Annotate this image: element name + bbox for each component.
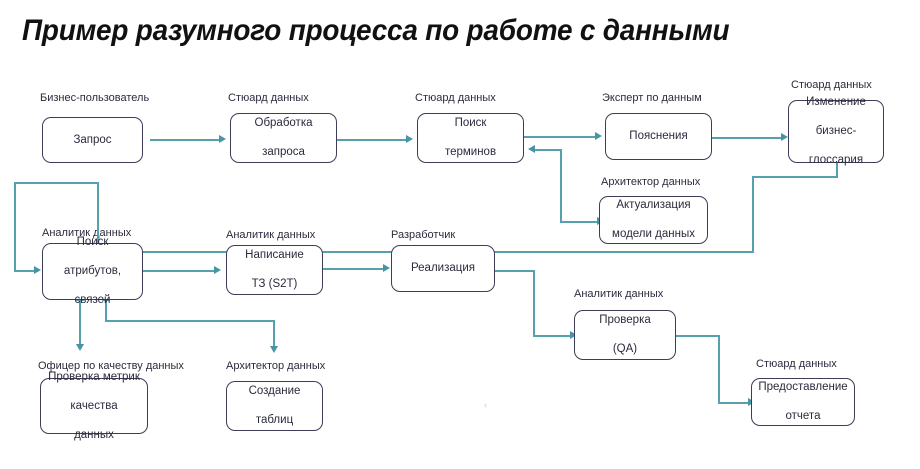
node-dq-metrics-line1: Проверка метрик — [48, 370, 140, 385]
node-attribute-search[interactable]: Поиск атрибутов, связей — [42, 243, 143, 300]
node-report-delivery[interactable]: Предоставление отчета — [751, 378, 855, 426]
node-request-processing-line1: Обработка — [255, 116, 313, 131]
node-implementation-label: Реализация — [411, 261, 475, 276]
node-clarifications[interactable]: Пояснения — [605, 113, 712, 160]
connector-branch-to-model-update — [560, 221, 598, 223]
node-report-delivery-line2: отчета — [758, 409, 847, 424]
node-table-creation-line2: таблиц — [249, 413, 301, 428]
connector-spec-to-implementation — [323, 268, 384, 270]
arrowhead-bus-to-attribute-search — [34, 266, 41, 274]
node-spec-writing[interactable]: Написание ТЗ (S2T) — [226, 245, 323, 295]
connector-processing-to-term-search — [337, 139, 407, 141]
node-request-processing-line2: запроса — [255, 145, 313, 160]
node-table-creation-line1: Создание — [249, 384, 301, 399]
node-term-search[interactable]: Поиск терминов — [417, 113, 524, 163]
node-spec-writing-line2: ТЗ (S2T) — [245, 277, 304, 292]
node-model-update-line1: Актуализация — [612, 198, 695, 213]
node-request-label: Запрос — [73, 133, 111, 148]
connector-implementation-right — [495, 270, 535, 272]
node-term-search-label: Поиск терминов — [445, 116, 496, 160]
connector-table-branch-down — [273, 320, 275, 348]
connector-implementation-down — [533, 270, 535, 336]
node-attribute-search-line1: Поиск — [64, 235, 121, 250]
connector-branch-vertical — [560, 149, 562, 221]
node-attribute-search-label: Поиск атрибутов, связей — [64, 235, 121, 308]
node-dq-metrics[interactable]: Проверка метрик качества данных — [40, 378, 148, 434]
role-label-business-user: Бизнес-пользователь — [40, 92, 149, 105]
role-label-data-steward-3: Стюард данных — [791, 79, 872, 92]
node-qa-check[interactable]: Проверка (QA) — [574, 310, 676, 360]
node-clarifications-label: Пояснения — [629, 129, 687, 144]
role-label-data-expert: Эксперт по данным — [602, 92, 702, 105]
role-label-data-architect-2: Архитектор данных — [226, 360, 325, 373]
connector-qa-to-report — [718, 402, 749, 404]
connector-implementation-to-qa — [533, 335, 571, 337]
role-label-data-steward-2: Стюард данных — [415, 92, 496, 105]
node-request[interactable]: Запрос — [42, 117, 143, 163]
node-request-processing-label: Обработка запроса — [255, 116, 313, 160]
connector-term-search-to-clarifications — [524, 136, 596, 138]
node-qa-check-line1: Проверка — [599, 313, 651, 328]
role-label-data-analyst-3: Аналитик данных — [574, 288, 663, 301]
connector-request-to-processing — [150, 139, 220, 141]
node-table-creation-label: Создание таблиц — [249, 384, 301, 428]
node-glossary-change-line1: Изменение — [806, 95, 866, 110]
node-term-search-line1: Поиск — [445, 116, 496, 131]
arrowhead-branch-to-term-search — [528, 145, 535, 153]
role-label-developer: Разработчик — [391, 229, 455, 242]
arrowhead-attribute-to-dq — [76, 344, 84, 351]
arrowhead-attribute-to-spec — [214, 266, 221, 274]
arrowhead-processing-to-term-search — [406, 135, 413, 143]
node-glossary-change-label: Изменение бизнес- глоссария — [806, 95, 866, 168]
node-qa-check-line2: (QA) — [599, 342, 651, 357]
connector-clarifications-to-glossary — [712, 137, 782, 139]
connector-qa-right — [676, 335, 720, 337]
role-label-data-architect-1: Архитектор данных — [601, 176, 700, 189]
role-label-data-analyst-2: Аналитик данных — [226, 229, 315, 242]
connector-bus-vertical-left — [14, 182, 16, 271]
node-spec-writing-line1: Написание — [245, 248, 304, 263]
node-dq-metrics-line3: данных — [48, 428, 140, 443]
node-term-search-line2: терминов — [445, 145, 496, 160]
connector-attribute-to-spec — [143, 270, 215, 272]
connector-table-branch-horizontal — [105, 320, 275, 322]
connector-qa-down — [718, 335, 720, 403]
node-glossary-change-line3: глоссария — [806, 153, 866, 168]
arrowhead-term-search-to-clarifications — [595, 132, 602, 140]
node-model-update-line2: модели данных — [612, 227, 695, 242]
node-report-delivery-label: Предоставление отчета — [758, 380, 847, 424]
node-glossary-change[interactable]: Изменение бизнес- глоссария — [788, 100, 884, 163]
role-label-data-steward-1: Стюард данных — [228, 92, 309, 105]
node-qa-check-label: Проверка (QA) — [599, 313, 651, 357]
node-request-processing[interactable]: Обработка запроса — [230, 113, 337, 163]
stray-mark: ‹ — [484, 400, 487, 410]
node-dq-metrics-line2: качества — [48, 399, 140, 414]
arrowhead-clarifications-to-glossary — [781, 133, 788, 141]
connector-glossary-left — [752, 176, 838, 178]
node-attribute-search-line3: связей — [64, 293, 121, 308]
page-title: Пример разумного процесса по работе с да… — [22, 14, 729, 48]
node-table-creation[interactable]: Создание таблиц — [226, 381, 323, 431]
diagram-canvas: Пример разумного процесса по работе с да… — [0, 0, 920, 469]
connector-bus-horizontal-upper — [14, 182, 99, 184]
arrowhead-branch-to-table-creation — [270, 346, 278, 353]
connector-bus-vertical-right — [752, 176, 754, 253]
node-report-delivery-line1: Предоставление — [758, 380, 847, 395]
arrowhead-spec-to-implementation — [383, 264, 390, 272]
connector-branch-to-term-search — [535, 149, 561, 151]
node-model-update[interactable]: Актуализация модели данных — [599, 196, 708, 244]
node-model-update-label: Актуализация модели данных — [612, 198, 695, 242]
role-label-data-steward-4: Стюард данных — [756, 358, 837, 371]
node-spec-writing-label: Написание ТЗ (S2T) — [245, 248, 304, 292]
arrowhead-request-to-processing — [219, 135, 226, 143]
node-dq-metrics-label: Проверка метрик качества данных — [48, 370, 140, 443]
node-glossary-change-line2: бизнес- — [806, 124, 866, 139]
node-implementation[interactable]: Реализация — [391, 245, 495, 292]
node-attribute-search-line2: атрибутов, — [64, 264, 121, 279]
